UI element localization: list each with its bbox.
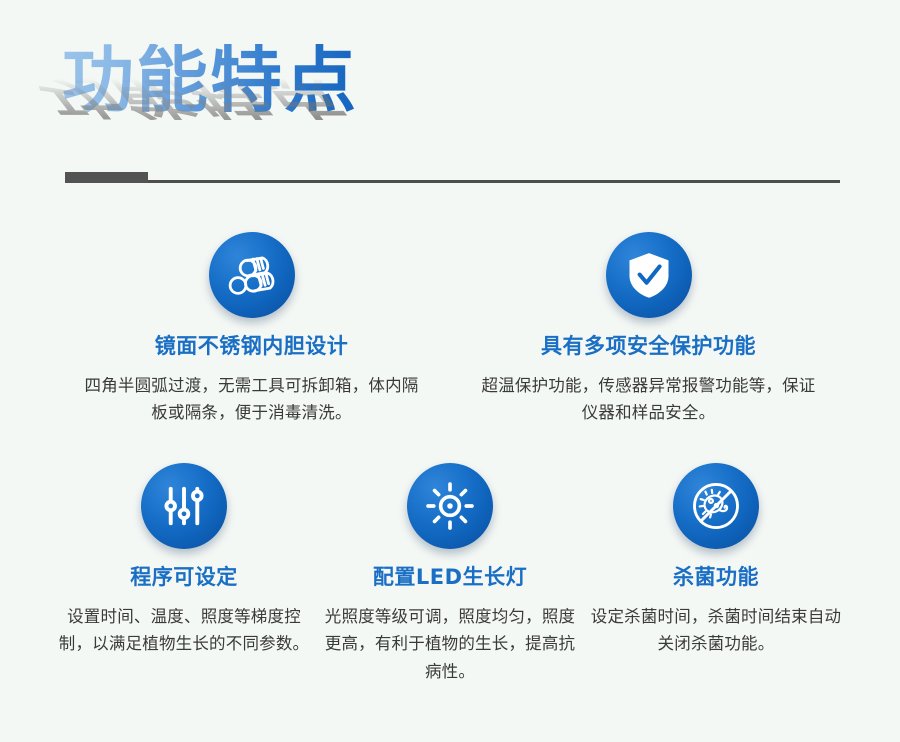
header-divider-accent (65, 172, 148, 183)
feature-card-safety-protection: 具有多项安全保护功能 超温保护功能，传感器异常报警功能等，保证仪器和样品安全。 (450, 232, 847, 427)
page-title-reflection: 功能特点 (27, 75, 358, 120)
feature-description: 超温保护功能，传感器异常报警功能等，保证仪器和样品安全。 (475, 372, 823, 426)
feature-row-top: 镜面不锈钢内胆设计 四角半圆弧过渡，无需工具可拆卸箱，体内隔板或隔条，便于消毒清… (0, 232, 900, 427)
header-divider-line (65, 180, 840, 183)
feature-title: 配置LED生长灯 (373, 565, 527, 590)
no-bacteria-icon (673, 463, 759, 549)
feature-description: 设定杀菌时间，杀菌时间结束自动关闭杀菌功能。 (590, 603, 842, 657)
feature-card-sterilization: 杀菌功能 设定杀菌时间，杀菌时间结束自动关闭杀菌功能。 (583, 463, 849, 685)
feature-card-programmable: 程序可设定 设置时间、温度、照度等梯度控制，以满足植物生长的不同参数。 (51, 463, 317, 685)
feature-row-bottom: 程序可设定 设置时间、温度、照度等梯度控制，以满足植物生长的不同参数。 配 (0, 463, 900, 685)
feature-title: 杀菌功能 (673, 565, 759, 590)
page-header: 功能特点 功能特点 (0, 0, 900, 200)
shield-check-icon (606, 232, 692, 318)
sliders-icon (141, 463, 227, 549)
feature-title: 程序可设定 (130, 565, 238, 590)
feature-description: 设置时间、温度、照度等梯度控制，以满足植物生长的不同参数。 (58, 603, 310, 657)
feature-card-led-grow-light: 配置LED生长灯 光照度等级可调，照度均匀，照度更高，有利于植物的生长，提高抗病… (317, 463, 583, 685)
stacked-pipes-icon (209, 232, 295, 318)
feature-title: 镜面不锈钢内胆设计 (155, 334, 349, 359)
feature-title: 具有多项安全保护功能 (541, 334, 756, 359)
feature-card-stainless-liner: 镜面不锈钢内胆设计 四角半圆弧过渡，无需工具可拆卸箱，体内隔板或隔条，便于消毒清… (53, 232, 450, 427)
brightness-sun-icon (407, 463, 493, 549)
feature-description: 四角半圆弧过渡，无需工具可拆卸箱，体内隔板或隔条，便于消毒清洗。 (78, 372, 426, 426)
page-title-wrapper: 功能特点 功能特点 (62, 44, 358, 164)
feature-description: 光照度等级可调，照度均匀，照度更高，有利于植物的生长，提高抗病性。 (324, 603, 576, 685)
